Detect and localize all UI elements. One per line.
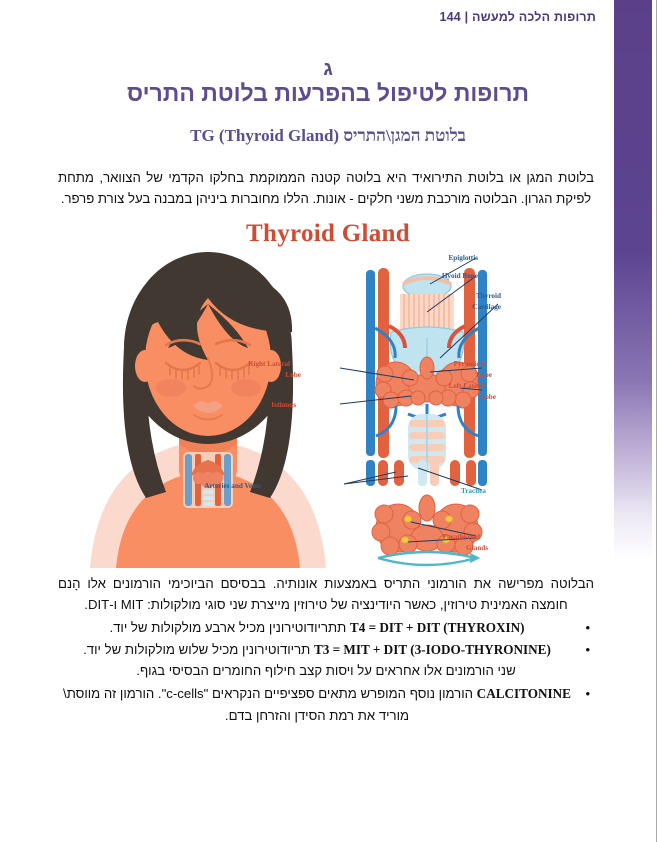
body-paragraph: הבלוטה מפרישה את הורמוני התריס באמצעות א… <box>58 573 594 615</box>
label-trachea: Trachea <box>461 487 486 495</box>
posterior-thyroid-view <box>372 495 482 565</box>
list-item: T3 = MIT + DIT (3-IODO-THYRONINE) תריודו… <box>58 639 576 660</box>
label-pyramidal-lobe: Pyramidal <box>454 360 486 368</box>
thyroid-illustration: Epiglottis Hyoid Bone Thyroid Cartilage … <box>78 208 578 568</box>
chapter-letter: ג <box>0 58 656 81</box>
label-right-lateral-lobe: Right Lateral <box>248 360 290 368</box>
bullet-formula-t4: T4 = DIT + DIT (THYROXIN) <box>350 620 525 635</box>
page-subtitle: בלוטת המגן\התריס TG (Thyroid Gland) <box>0 126 656 146</box>
bullet-text-calcitonin: הורמון נוסף המופרש מתאים ספציפיים הנקראי… <box>63 686 473 722</box>
neck-cutaway <box>183 452 233 508</box>
label-hyoid-bone: Hyoid Bone <box>442 272 478 280</box>
label-left-lateral-lobe: Left Lateral <box>449 382 486 390</box>
bullet-formula-calcitonin: CALCITONINE <box>477 686 571 701</box>
intro-paragraph: בלוטת המגן או בלוטת התירואיד היא בלוטה ק… <box>58 168 594 209</box>
label-epiglottis: Epiglottis <box>448 254 478 262</box>
calcitonin-bullet-list: CALCITONINE הורמון נוסף המופרש מתאים ספצ… <box>58 683 594 726</box>
body-note: שני הורמונים אלו אחראים על ויסות קצב חיל… <box>58 660 594 681</box>
body-text-block: הבלוטה מפרישה את הורמוני התריס באמצעות א… <box>58 573 594 726</box>
label-isthmus: Isthmus <box>271 401 296 409</box>
bullet-formula-t3: T3 = MIT + DIT (3-IODO-THYRONINE) <box>314 642 551 657</box>
label-pyramidal-lobe-2: Lobe <box>476 371 492 379</box>
label-left-lateral-lobe-2: Lobe <box>480 393 496 401</box>
label-parathyroid-glands-2: Glands <box>466 544 488 552</box>
bullet-text-t4: תתריודוטירונין מכיל ארבע מולקולות של יוד… <box>109 620 346 635</box>
page-title: תרופות לטיפול בהפרעות בלוטת התריס <box>0 80 656 107</box>
label-right-lateral-lobe-2: Lobe <box>285 371 301 379</box>
thyroid-figure: Thyroid Gland <box>78 208 578 568</box>
label-arteries-and-veins: Arteries and Veins <box>204 482 261 490</box>
list-item: T4 = DIT + DIT (THYROXIN) תתריודוטירונין… <box>58 617 576 638</box>
label-thyroid-cartilage: Thyroid <box>476 292 501 300</box>
label-thyroid-cartilage-2: Cartilage <box>472 303 501 311</box>
bullet-text-t3: תריודוטירונין מכיל שלוש מולקולות של יוד. <box>83 642 310 657</box>
list-item: CALCITONINE הורמון נוסף המופרש מתאים ספצ… <box>58 683 576 726</box>
label-parathyroid-glands: Parathyroid <box>443 533 480 541</box>
document-page: תרופות הלכה למעשה | 144 ג תרופות לטיפול … <box>0 0 657 842</box>
hormone-bullet-list: T4 = DIT + DIT (THYROXIN) תתריודוטירונין… <box>58 617 594 660</box>
woman-illustration <box>90 252 326 568</box>
running-head: תרופות הלכה למעשה | 144 <box>440 10 597 24</box>
